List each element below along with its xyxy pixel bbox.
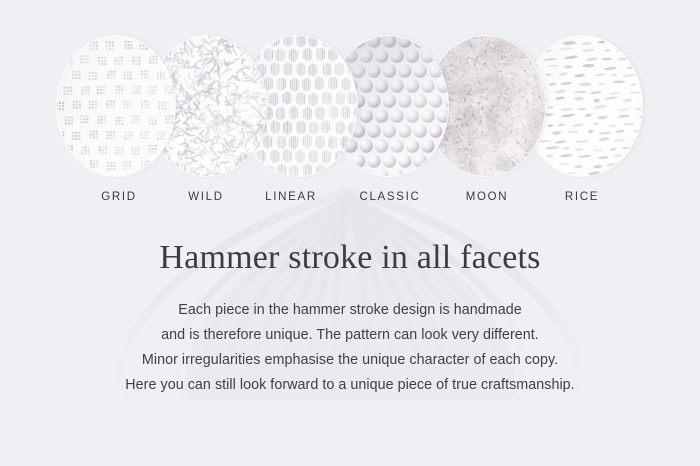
- body-copy: Each piece in the hammer stroke design i…: [0, 298, 700, 398]
- swatch-label-row: GRID WILD LINEAR CLASSIC MOON RICE: [0, 188, 700, 208]
- swatch-label-rice: RICE: [502, 188, 662, 206]
- swatch-grid[interactable]: [57, 36, 175, 176]
- promo-banner: GRID WILD LINEAR CLASSIC MOON RICE Hamme…: [0, 0, 700, 466]
- body-line: Minor irregularities emphasise the uniqu…: [0, 348, 700, 373]
- swatch-sheen: [57, 36, 175, 176]
- body-line: Each piece in the hammer stroke design i…: [0, 298, 700, 323]
- swatch-row: [0, 0, 700, 186]
- body-line: and is therefore unique. The pattern can…: [0, 323, 700, 348]
- body-line: Here you can still look forward to a uni…: [0, 373, 700, 398]
- page-title: Hammer stroke in all facets: [0, 236, 700, 280]
